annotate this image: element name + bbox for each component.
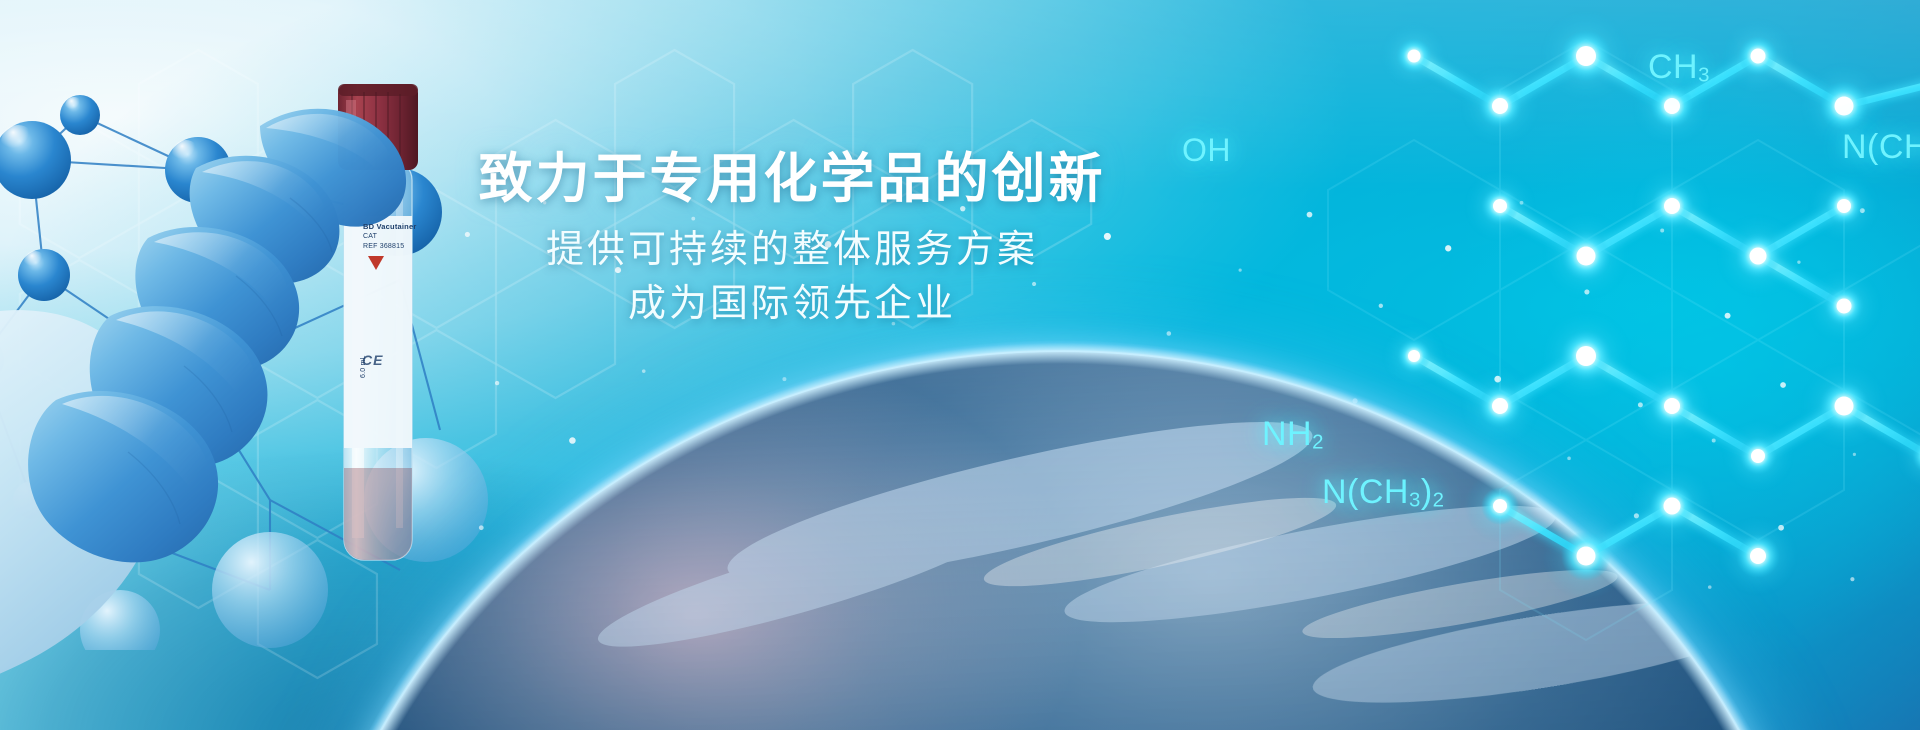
earth-terrain bbox=[300, 352, 1820, 730]
glowing-molecular-structure bbox=[1200, 0, 1920, 730]
tube-ref-label: REF 368815 bbox=[363, 243, 404, 250]
earth-sphere bbox=[300, 352, 1820, 730]
gloved-hand-with-test-tube bbox=[0, 48, 480, 730]
page-title: 致力于专用化学品的创新 bbox=[392, 150, 1192, 208]
nh2-label: NH2 bbox=[1262, 415, 1324, 455]
tube-cat-label: CAT bbox=[363, 233, 377, 240]
hero-banner: BD Vacutainer CAT REF 368815 CE 6.0 mL bbox=[0, 0, 1920, 730]
tube-volume-label: 6.0 mL bbox=[360, 355, 367, 378]
banner-subtitle-line2: 成为国际领先企业 bbox=[392, 278, 1192, 332]
banner-subtitle: 提供可持续的整体服务方案 成为国际领先企业 bbox=[392, 224, 1192, 332]
top-light-gradient bbox=[0, 0, 1920, 190]
ch3-label: CH3 bbox=[1648, 48, 1710, 88]
nch32-label: N(CH3)2 bbox=[1322, 473, 1445, 513]
right-cyan-glow bbox=[1229, 0, 1920, 730]
banner-copy-block: 致力于专用化学品的创新 提供可持续的整体服务方案 成为国际领先企业 bbox=[392, 150, 1192, 332]
hexagon-watermark-left bbox=[0, 0, 1190, 730]
molecule-spheres-graphic bbox=[0, 30, 530, 650]
earth-globe bbox=[300, 352, 1820, 730]
tube-ce-mark: CE bbox=[362, 352, 383, 368]
tube-brand-label: BD Vacutainer bbox=[363, 222, 416, 231]
earth-terminator-shading bbox=[300, 352, 1820, 730]
banner-subtitle-line1: 提供可持续的整体服务方案 bbox=[392, 224, 1192, 278]
star-field bbox=[422, 175, 1920, 730]
nch-label: N(CH bbox=[1842, 128, 1920, 167]
bottom-left-shadow bbox=[0, 292, 1037, 730]
earth-atmosphere-glow bbox=[288, 340, 1832, 730]
oh-label: OH bbox=[1182, 132, 1231, 169]
